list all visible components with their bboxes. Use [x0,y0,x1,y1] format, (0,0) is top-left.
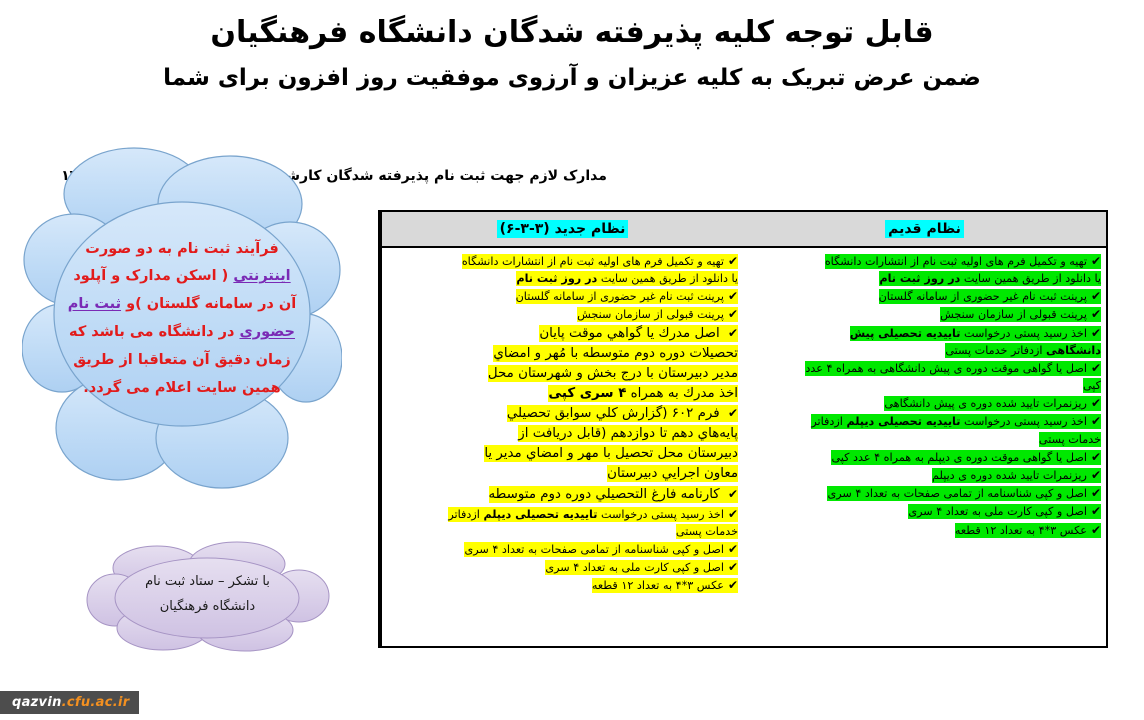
document-item: تحصیلات دوره دوم متوسطه با مُهر و امضاي [385,344,740,364]
document-item: ✔ فرم ۶۰۲ (گزارش کلي سوابق تحصیلي [385,404,740,424]
highlight-run: اخذ مدرك به همراه ۴ سری کپی [548,385,738,402]
highlight-run: ✔ کارنامه فارغ التحصیلي دوره دوم متوسطه [489,486,739,503]
column-header-old-system: نظام قدیم [743,212,1106,248]
highlight-run: یا دانلود از طریق همین سایت در روز ثبت ن… [879,271,1101,286]
check-icon: ✔ [728,326,738,340]
check-icon: ✔ [728,289,738,303]
check-icon: ✔ [1091,396,1101,410]
check-icon: ✔ [1091,504,1101,518]
page-title: قابل توجه کلیه پذیرفته شدگان دانشگاه فره… [0,14,1144,52]
thanks-cloud: با تشکر – ستاد ثبت نامدانشگاه فرهنگیان [85,540,330,652]
highlight-run: ✔پرینت قبولی از سازمان سنجش [577,307,738,322]
item-emphasis: تاییدیه تحصیلی دیپلم [483,508,597,521]
highlight-run: ✔پرینت ثبت نام غیر حضوری از سامانه گلستا… [879,289,1101,304]
slide-canvas: قابل توجه کلیه پذیرفته شدگان دانشگاه فره… [0,0,1144,720]
column-body-new-system: ✔تهیه و تکمیل فرم های اولیه ثبت نام از ا… [382,248,743,646]
document-item: ✔اخذ رسید پستی درخواست تاییدیه تحصیلی پی… [746,324,1103,342]
item-text: تهیه و تکمیل فرم های اولیه ثبت نام از ان… [825,255,1087,268]
document-item: ✔عکس ۳*۴ به تعداد ۱۲ قطعه [746,521,1103,539]
item-text: ریزنمرات تایید شده دوره ی پیش دانشگاهی [884,397,1087,410]
item-emphasis: در روز ثبت نام [516,272,597,285]
column-new-system: نظام جدید (۳-۳-۶) ✔تهیه و تکمیل فرم های … [380,212,743,646]
item-text: خدمات پستی [676,525,738,538]
documents-table: نظام جدید (۳-۳-۶) ✔تهیه و تکمیل فرم های … [378,210,1108,648]
check-icon: ✔ [728,560,738,574]
document-item: ✔اصل یا گواهی موقت دوره ی پیش دانشگاهی ب… [746,359,1103,377]
highlight-run: ✔ فرم ۶۰۲ (گزارش کلي سوابق تحصیلي [507,405,738,422]
watermark-suffix: .cfu.ac.ir [62,695,130,710]
item-text: اخذ رسید پستی درخواست [960,415,1087,428]
check-icon: ✔ [1091,289,1101,303]
highlight-run: ✔عکس ۳*۴ به تعداد ۱۲ قطعه [592,578,738,593]
document-item: ✔پرینت ثبت نام غیر حضوری از سامانه گلستا… [746,287,1103,305]
highlight-run: کپی [1083,378,1101,393]
document-item: معاون اجرایي دبیرستان [385,464,740,484]
document-item: دانشگاهی ازدفاتر خدمات پستی [746,342,1103,359]
column-header-label: نظام جدید (۳-۳-۶) [497,220,629,238]
document-item: ✔پرینت قبولی از سازمان سنجش [746,305,1103,323]
document-item: پایه‌هاي دهم تا دوازدهم (قابل دریافت از [385,424,740,444]
column-header-new-system: نظام جدید (۳-۳-۶) [382,212,743,248]
item-text: پرینت قبولی از سازمان سنجش [940,308,1087,321]
check-icon: ✔ [728,578,738,592]
highlight-run: خدمات پستی [676,524,738,539]
highlight-run: تحصیلات دوره دوم متوسطه با مُهر و امضاي [493,345,738,362]
item-emphasis: دانشگاهی [1046,344,1101,357]
highlight-run: ✔اصل و کپی کارت ملی به تعداد ۴ سری [545,560,738,575]
document-item: ✔اصل و کپی کارت ملی به تعداد ۴ سری [385,558,740,576]
check-icon: ✔ [1091,326,1101,340]
highlight-run: ✔اصل یا گواهی موقت دوره ی پیش دانشگاهی ب… [805,361,1101,376]
highlight-run: ✔پرینت قبولی از سازمان سنجش [940,307,1101,322]
document-item: خدمات پستی [746,431,1103,448]
highlight-run: ✔اصل و کپی شناسنامه از تمامی صفحات به تع… [464,542,738,557]
document-item: مدیر دبیرستان با درج بخش و شهرستان محل [385,364,740,384]
highlight-run: پایه‌هاي دهم تا دوازدهم (قابل دریافت از [518,425,738,442]
item-text: پرینت ثبت نام غیر حضوری از سامانه گلستان [516,290,724,303]
item-text: ریزنمرات تایید شده دوره ی دیپلم [932,469,1087,482]
item-text: اصل یا گواهی موقت دوره ی پیش دانشگاهی به… [805,362,1087,375]
item-text: مدیر دبیرستان با درج بخش و شهرستان محل [488,366,738,381]
document-item: ✔اصل و کپی کارت ملی به تعداد ۴ سری [746,502,1103,520]
check-icon: ✔ [728,542,738,556]
document-item: ✔ریزنمرات تایید شده دوره ی دیپلم [746,466,1103,484]
highlight-run: ✔عکس ۳*۴ به تعداد ۱۲ قطعه [955,523,1101,538]
document-item: ✔اصل یا گواهی موقت دوره ی دیپلم به همراه… [746,448,1103,466]
document-item: ✔اصل و کپی شناسنامه از تمامی صفحات به تع… [385,540,740,558]
document-item: یا دانلود از طریق همین سایت در روز ثبت ن… [385,270,740,287]
document-item: ✔اصل و کپی شناسنامه از تمامی صفحات به تع… [746,484,1103,502]
document-item: ✔ کارنامه فارغ التحصیلي دوره دوم متوسطه [385,485,740,505]
check-icon: ✔ [1091,414,1101,428]
item-text: تهیه و تکمیل فرم های اولیه ثبت نام از ان… [462,255,724,268]
check-icon: ✔ [1091,307,1101,321]
document-item: ✔اخذ رسید پستی درخواست تاییدیه تحصیلی دی… [746,412,1103,430]
highlight-run: ✔ریزنمرات تایید شده دوره ی دیپلم [932,468,1101,483]
page-subtitle-congrats: ضمن عرض تبریک به کلیه عزیزان و آرزوی موف… [0,64,1144,94]
item-text: پایه‌هاي دهم تا دوازدهم (قابل دریافت از [518,426,738,441]
document-item: ✔پرینت ثبت نام غیر حضوری از سامانه گلستا… [385,287,740,305]
highlight-run: یا دانلود از طریق همین سایت در روز ثبت ن… [516,271,738,286]
column-body-old-system: ✔تهیه و تکمیل فرم های اولیه ثبت نام از ا… [743,248,1106,646]
highlight-run: ✔تهیه و تکمیل فرم های اولیه ثبت نام از ا… [825,254,1101,269]
item-text: اصل مدرك یا گواهي موقت پایان [539,326,724,341]
highlight-run: دانشگاهی ازدفاتر خدمات پستی [945,343,1101,358]
title-block: قابل توجه کلیه پذیرفته شدگان دانشگاه فره… [0,14,1144,93]
item-text: اصل یا گواهی موقت دوره ی دیپلم به همراه … [831,451,1087,464]
check-icon: ✔ [1091,523,1101,537]
check-icon: ✔ [1091,450,1101,464]
item-text: اصل و کپی شناسنامه از تمامی صفحات به تعد… [464,543,723,556]
document-item: دبیرستان محل تحصیل با مهر و امضاي مدیر ی… [385,444,740,464]
highlight-run: خدمات پستی [1039,432,1101,447]
site-watermark: qazvin.cfu.ac.ir [0,691,139,714]
document-item: کپی [746,377,1103,394]
document-item: ✔تهیه و تکمیل فرم های اولیه ثبت نام از ا… [385,252,740,270]
highlight-run: ✔اصل و کپی شناسنامه از تمامی صفحات به تع… [827,486,1101,501]
check-icon: ✔ [728,406,738,420]
item-text: اصل و کپی کارت ملی به تعداد ۴ سری [908,505,1087,518]
item-text: ازدفاتر خدمات پستی [945,344,1046,357]
item-text: اخذ رسید پستی درخواست [597,508,724,521]
item-emphasis: ۴ سری کپی [548,386,626,401]
highlight-run: مدیر دبیرستان با درج بخش و شهرستان محل [488,365,738,382]
highlight-run: ✔تهیه و تکمیل فرم های اولیه ثبت نام از ا… [462,254,738,269]
highlight-run: ✔اصل و کپی کارت ملی به تعداد ۴ سری [908,504,1101,519]
item-text: ازدفاتر [448,508,483,521]
highlight-run: ✔ریزنمرات تایید شده دوره ی پیش دانشگاهی [884,396,1101,411]
watermark-domain: qazvin [12,695,62,710]
item-emphasis: در روز ثبت نام [879,272,960,285]
document-item: ✔عکس ۳*۴ به تعداد ۱۲ قطعه [385,576,740,594]
item-text: پرینت ثبت نام غیر حضوری از سامانه گلستان [879,290,1087,303]
item-text: عکس ۳*۴ به تعداد ۱۲ قطعه [592,579,724,592]
highlight-run: ✔اخذ رسید پستی درخواست تاییدیه تحصیلی دی… [811,414,1101,429]
item-text: یا دانلود از طریق همین سایت [597,272,738,285]
highlight-run: ✔اخذ رسید پستی درخواست تاییدیه تحصیلی دی… [448,507,738,522]
notice-cloud: فرآیند ثبت نام به دو صورتاینترنتی ( اسکن… [22,142,342,502]
highlight-run: معاون اجرایي دبیرستان [607,465,738,482]
item-emphasis: تاییدیه تحصیلی پیش [850,327,961,340]
item-text: دبیرستان محل تحصیل با مهر و امضاي مدیر ی… [484,446,738,461]
item-text: پرینت قبولی از سازمان سنجش [577,308,724,321]
item-text: یا دانلود از طریق همین سایت [960,272,1101,285]
item-text: فرم ۶۰۲ (گزارش کلي سوابق تحصیلي [507,406,724,421]
item-text: اصل و کپی شناسنامه از تمامی صفحات به تعد… [827,487,1086,500]
column-old-system: نظام قدیم ✔تهیه و تکمیل فرم های اولیه ثب… [743,212,1106,646]
document-item: ✔پرینت قبولی از سازمان سنجش [385,305,740,323]
document-item: ✔ریزنمرات تایید شده دوره ی پیش دانشگاهی [746,394,1103,412]
highlight-run: دبیرستان محل تحصیل با مهر و امضاي مدیر ی… [484,445,738,462]
check-icon: ✔ [728,487,738,501]
document-item: یا دانلود از طریق همین سایت در روز ثبت ن… [746,270,1103,287]
document-item: خدمات پستی [385,523,740,540]
item-emphasis: تاییدیه تحصیلی دیپلم [846,415,960,428]
check-icon: ✔ [728,507,738,521]
item-text: خدمات پستی [1039,433,1101,446]
item-text: تحصیلات دوره دوم متوسطه با مُهر و امضاي [493,346,738,361]
item-text: اخذ مدرك به همراه [626,386,738,401]
document-item: ✔اخذ رسید پستی درخواست تاییدیه تحصیلی دی… [385,505,740,523]
highlight-run: ✔ اصل مدرك یا گواهي موقت پایان [539,325,738,342]
item-text: اصل و کپی کارت ملی به تعداد ۴ سری [545,561,724,574]
item-text: اخذ رسید پستی درخواست [960,327,1087,340]
highlight-run: ✔اخذ رسید پستی درخواست تاییدیه تحصیلی پی… [850,326,1101,341]
item-text: معاون اجرایي دبیرستان [607,466,738,481]
column-header-label: نظام قدیم [885,220,964,238]
check-icon: ✔ [728,254,738,268]
check-icon: ✔ [728,307,738,321]
highlight-run: ✔اصل یا گواهی موقت دوره ی دیپلم به همراه… [831,450,1101,465]
item-text: ازدفاتر [811,415,846,428]
check-icon: ✔ [1091,361,1101,375]
document-item: اخذ مدرك به همراه ۴ سری کپی [385,384,740,404]
check-icon: ✔ [1091,254,1101,268]
document-item: ✔تهیه و تکمیل فرم های اولیه ثبت نام از ا… [746,252,1103,270]
item-text: کپی [1083,379,1101,392]
document-item: ✔ اصل مدرك یا گواهي موقت پایان [385,324,740,344]
item-text: کارنامه فارغ التحصیلي دوره دوم متوسطه [489,487,724,502]
highlight-run: ✔پرینت ثبت نام غیر حضوری از سامانه گلستا… [516,289,738,304]
check-icon: ✔ [1091,486,1101,500]
check-icon: ✔ [1091,468,1101,482]
item-text: عکس ۳*۴ به تعداد ۱۲ قطعه [955,524,1087,537]
